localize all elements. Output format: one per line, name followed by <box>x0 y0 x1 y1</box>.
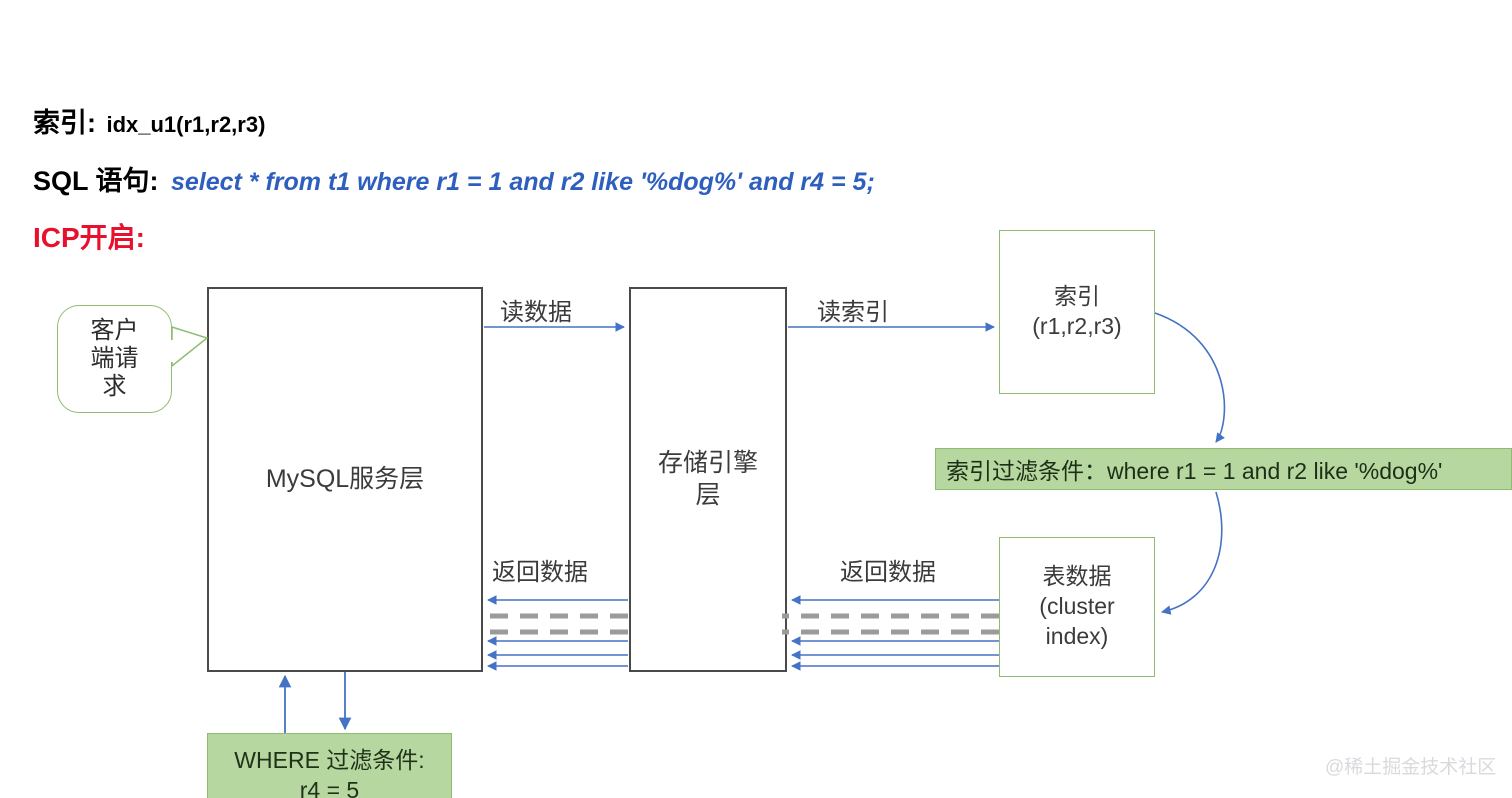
index-line: 索引: idx_u1(r1,r2,r3) <box>33 110 265 137</box>
diagram-canvas: 索引: idx_u1(r1,r2,r3) SQL 语句: select * fr… <box>0 0 1512 798</box>
read-index-label: 读索引 <box>817 292 889 327</box>
index-value: idx_u1(r1,r2,r3) <box>106 112 265 137</box>
mysql-service-layer-label: MySQL服务层 <box>266 464 424 495</box>
index-box: 索引 (r1,r2,r3) <box>999 230 1155 394</box>
mysql-service-layer-box: MySQL服务层 <box>207 287 483 672</box>
index-box-label: 索引 (r1,r2,r3) <box>1032 282 1121 342</box>
read-data-label: 读数据 <box>500 292 572 327</box>
storage-engine-layer-label: 存储引擎 层 <box>658 448 758 511</box>
table-data-box: 表数据 (cluster index) <box>999 537 1155 677</box>
index-filter-condition-label: 索引过滤条件：where r1 = 1 and r2 like '%dog%' <box>946 452 1442 486</box>
index-filter-condition-panel: 索引过滤条件：where r1 = 1 and r2 like '%dog%' <box>935 448 1512 490</box>
sql-statement: select * from t1 where r1 = 1 and r2 lik… <box>171 168 875 196</box>
edge-filter-to-table <box>1162 492 1222 612</box>
where-filter-condition-label: WHERE 过滤条件: r4 = 5 <box>234 746 424 798</box>
icp-enabled-label: ICP开启: <box>33 222 145 253</box>
edge-index-to-filter <box>1155 313 1224 442</box>
where-filter-condition-panel: WHERE 过滤条件: r4 = 5 <box>207 733 452 798</box>
client-request-callout: 客户 端请 求 <box>57 305 172 413</box>
watermark: @稀土掘金技术社区 <box>1325 752 1496 779</box>
index-label: 索引: <box>33 108 96 138</box>
return-data-right-label: 返回数据 <box>840 552 936 587</box>
sql-line: SQL 语句: select * from t1 where r1 = 1 an… <box>33 168 875 195</box>
table-data-box-label: 表数据 (cluster index) <box>1039 562 1114 652</box>
client-request-label: 客户 端请 求 <box>91 317 139 402</box>
icp-line: ICP开启: <box>33 224 145 252</box>
storage-engine-layer-box: 存储引擎 层 <box>629 287 787 672</box>
sql-label: SQL 语句: <box>33 166 159 196</box>
return-data-left-label: 返回数据 <box>492 552 588 587</box>
callout-tail <box>172 327 207 366</box>
